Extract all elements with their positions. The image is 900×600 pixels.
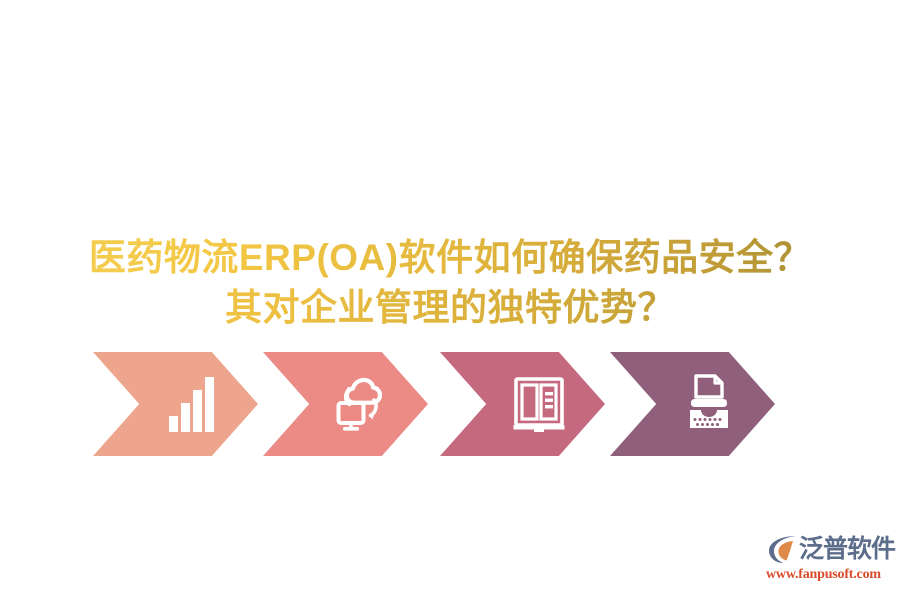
- cloud-sync-monitor-icon: [335, 374, 389, 434]
- open-book-icon: [512, 374, 566, 434]
- chevron-step-3: [440, 352, 605, 456]
- process-chevron-band: [93, 352, 783, 456]
- typewriter-icon: [682, 374, 736, 434]
- chevron-step-1: [93, 352, 258, 456]
- chevron-step-4: [610, 352, 775, 456]
- bar-chart-icon: [165, 374, 219, 434]
- brand-name: 泛普软件: [799, 533, 895, 565]
- fanpu-logo-mark-icon: [766, 533, 798, 565]
- brand-logo[interactable]: 泛普软件 www.fanpusoft.com: [766, 532, 892, 588]
- page-title-line-2: 其对企业管理的独特优势？: [0, 283, 900, 333]
- chevron-step-2: [263, 352, 428, 456]
- page-title: 医药物流ERP(OA)软件如何确保药品安全？ 其对企业管理的独特优势？: [0, 233, 900, 333]
- page-title-line-1: 医药物流ERP(OA)软件如何确保药品安全？: [0, 233, 900, 283]
- brand-url: www.fanpusoft.com: [766, 567, 892, 583]
